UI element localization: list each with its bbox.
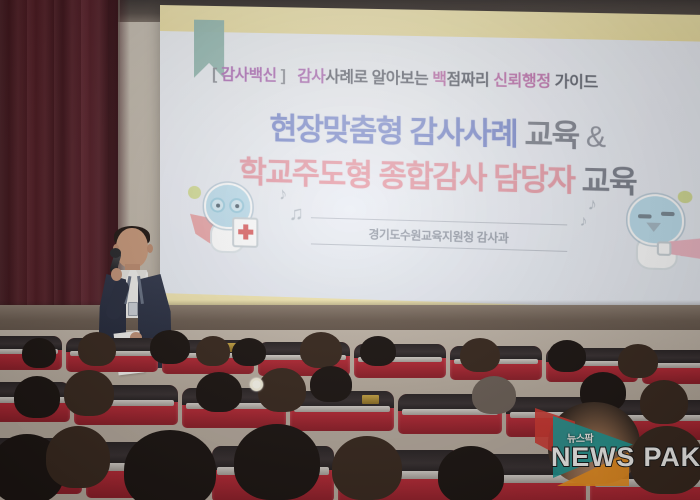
audience-head — [460, 338, 500, 372]
audience-head — [618, 344, 658, 378]
presenter-badge — [128, 302, 138, 316]
mascot-left-eye-left — [216, 204, 220, 208]
audience-head — [78, 332, 116, 366]
audience-head — [310, 366, 352, 402]
seat-trim — [294, 406, 390, 412]
subtitle-plain-1: 사례로 알아보는 — [325, 68, 428, 87]
mascot-left-dot — [188, 186, 201, 199]
audience-head — [548, 340, 586, 372]
audience-head — [258, 368, 306, 412]
subtitle-highlight-1: 감사 — [297, 68, 325, 86]
audience-head — [472, 376, 516, 414]
audience-head — [196, 336, 230, 366]
mascot-right-mouth — [646, 223, 661, 233]
audience-head — [14, 376, 60, 418]
watermark-brand-text: NEWS PAK — [551, 442, 700, 473]
presenter-ear-right — [147, 244, 153, 253]
audience-head — [232, 338, 266, 366]
title1-rest: 교육 — [524, 118, 578, 153]
audience-head — [234, 424, 320, 500]
hair-flower-accessory — [250, 378, 263, 391]
mascot-auditor-with-clipboard — [188, 178, 266, 258]
title1-emphasis: 현장맞춤형 감사사례 — [269, 113, 517, 152]
subtitle-plain-2: 점짜리 — [447, 71, 490, 89]
projection-screen: [ 감사백신 ] 감사사례로 알아보는 백점짜리 신뢰행정 가이드 현장맞춤형 … — [160, 5, 700, 344]
audience-head — [438, 446, 504, 500]
news-pak-watermark: 뉴스팍 NEWS PAK — [543, 404, 700, 496]
audience-head — [360, 336, 396, 366]
music-note-icon: ♫ — [289, 203, 304, 227]
music-note-icon: ♪ — [580, 213, 588, 231]
audience-head — [196, 372, 242, 412]
mascot-left-cross-horizontal — [238, 229, 253, 234]
audience-head — [46, 426, 110, 488]
audience-head — [22, 338, 56, 368]
audience-head — [64, 370, 114, 416]
mascot-right-head — [628, 193, 684, 246]
mascot-with-megaphone — [617, 187, 700, 276]
title2-emphasis: 학교주도형 종합감사 담당자 — [239, 156, 575, 198]
subtitle-highlight-2: 백 — [432, 71, 446, 89]
microphone-head-icon — [110, 248, 121, 258]
presenter-head — [116, 228, 148, 268]
audience-head — [332, 436, 402, 500]
mascot-right-hand — [657, 241, 672, 256]
audience-head — [150, 330, 190, 364]
mascot-left-eye-right — [235, 204, 239, 208]
title1-ampersand: & — [586, 121, 605, 154]
photo-scene: [ 감사백신 ] 감사사례로 알아보는 백점짜리 신뢰행정 가이드 현장맞춤형 … — [0, 0, 700, 500]
presenter-hand-mic — [111, 268, 122, 281]
subtitle-plain-3: 가이드 — [555, 73, 598, 91]
mascot-right-eye-right — [661, 212, 675, 216]
audience-head — [124, 430, 216, 500]
mascot-right-eye-left — [638, 214, 652, 218]
subtitle-bracket-close: ] — [281, 68, 286, 85]
subtitle-tag: 감사백신 — [221, 66, 277, 84]
subtitle-bracket-open: [ — [212, 66, 217, 83]
mascot-right-dot — [678, 191, 693, 204]
subtitle-highlight-3: 신뢰행정 — [493, 72, 550, 91]
audience-head — [300, 332, 342, 368]
seat-number-plate — [362, 395, 379, 404]
